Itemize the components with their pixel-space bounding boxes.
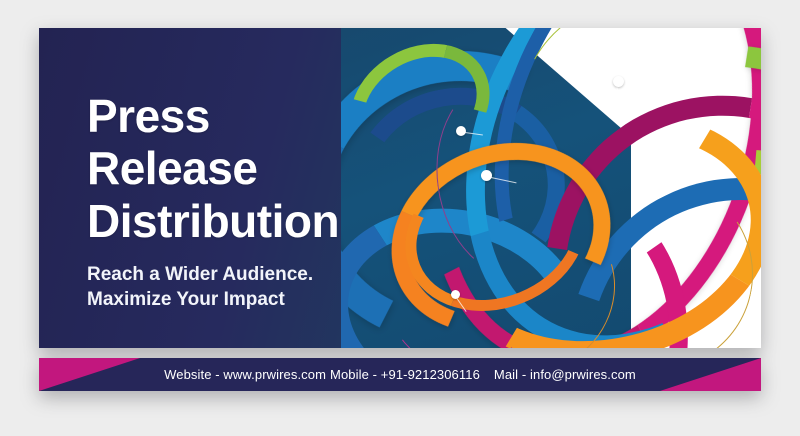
banner-text-block: Press Release Distribution Reach a Wider… (87, 90, 339, 313)
footer-mail: Mail - info@prwires.com (494, 367, 636, 382)
subheadline-line-2: Maximize Your Impact (87, 288, 339, 313)
headline-line-2: Release (87, 142, 339, 194)
accent-dot-1 (613, 76, 624, 87)
headline-line-3: Distribution (87, 195, 339, 247)
footer-website: Website - www.prwires.com (164, 367, 326, 382)
banner-headline: Press Release Distribution (87, 90, 339, 247)
accent-dot-3 (481, 170, 492, 181)
banner-subheadline: Reach a Wider Audience. Maximize Your Im… (87, 263, 339, 312)
accent-dot-4 (451, 290, 460, 299)
abstract-swirl-artwork (341, 28, 761, 348)
banner-main-panel: Press Release Distribution Reach a Wider… (39, 28, 761, 348)
subheadline-line-1: Reach a Wider Audience. (87, 263, 339, 288)
footer-mobile: Mobile - +91-9212306116 (330, 367, 480, 382)
banner-contact-footer: Website - www.prwires.com Mobile - +91-9… (39, 358, 761, 391)
press-release-banner-card: Press Release Distribution Reach a Wider… (39, 28, 761, 391)
headline-line-1: Press (87, 90, 339, 142)
footer-contact-text: Website - www.prwires.com Mobile - +91-9… (39, 358, 761, 391)
